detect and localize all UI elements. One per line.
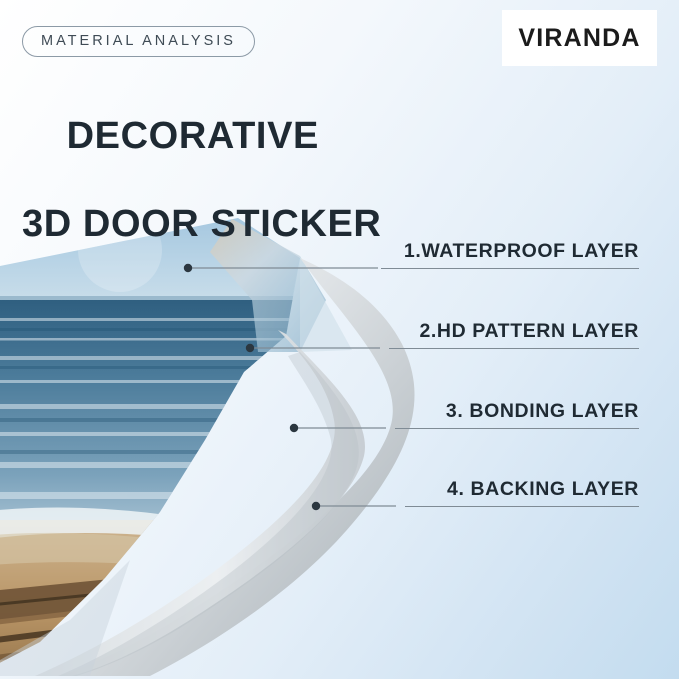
page-title-line1: DECORATIVE [67, 115, 319, 157]
callout-label-hd-pattern-layer: 2.HD PATTERN LAYER [389, 320, 639, 349]
brand-logo-box: VIRANDA [502, 10, 657, 66]
page-title: DECORATIVE 3D DOOR STICKER [22, 70, 381, 334]
brand-name: VIRANDA [518, 24, 640, 53]
eyebrow-badge: MATERIAL ANALYSIS [22, 26, 255, 57]
callout-dot-4 [312, 502, 320, 510]
poster-canvas: MATERIAL ANALYSIS VIRANDA DECORATIVE 3D … [0, 0, 679, 679]
callout-dot-2 [246, 344, 254, 352]
callout-label-waterproof-layer: 1.WATERPROOF LAYER [381, 240, 639, 269]
callout-label-bonding-layer: 3. BONDING LAYER [395, 400, 639, 429]
callout-dot-3 [290, 424, 298, 432]
callout-label-backing-layer: 4. BACKING LAYER [405, 478, 639, 507]
page-title-line2: 3D DOOR STICKER [22, 202, 381, 246]
